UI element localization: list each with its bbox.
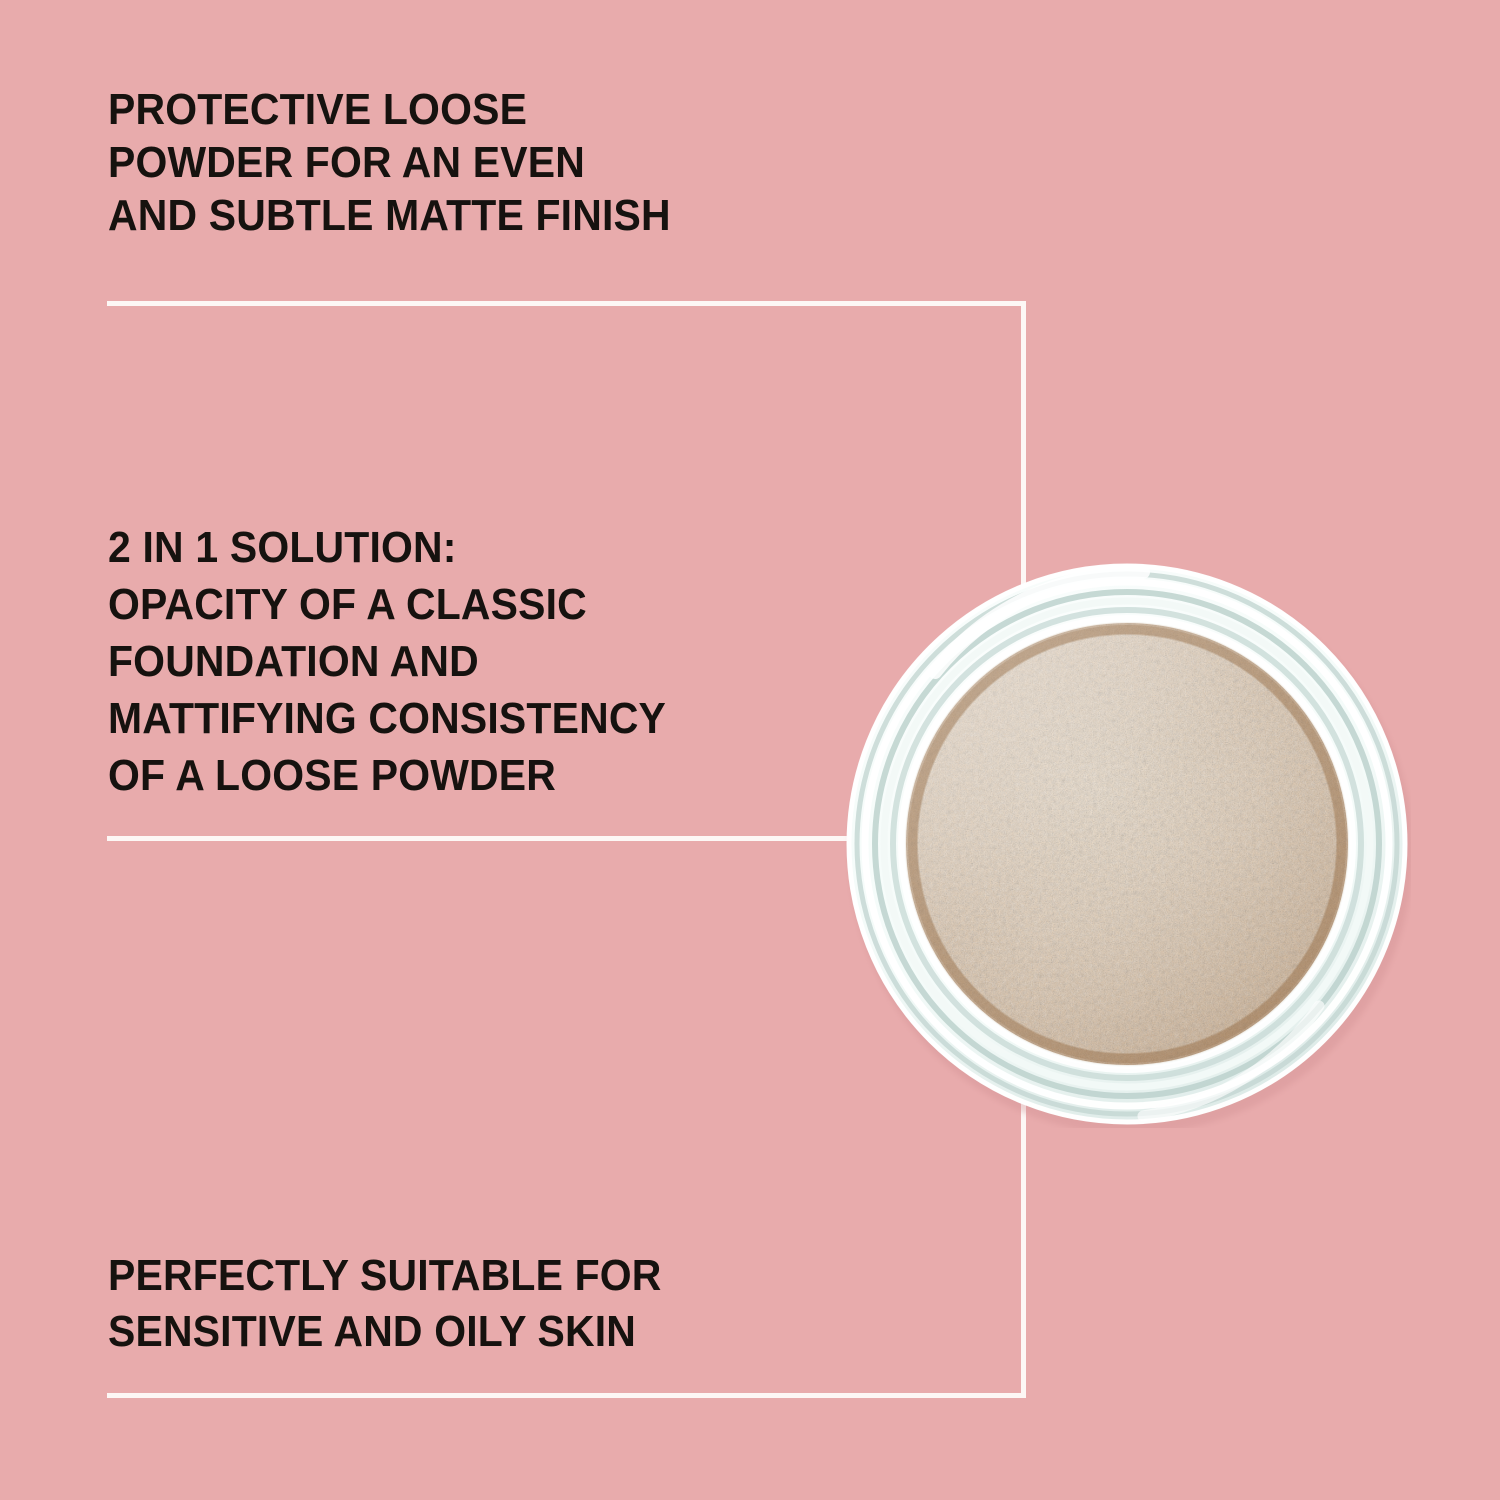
benefit-text-two-in-one: 2 IN 1 SOLUTION: OPACITY OF A CLASSIC FO… [108, 519, 666, 804]
bracket-line-top-horizontal [107, 301, 1026, 306]
loose-powder-jar-image [843, 560, 1411, 1128]
benefit-text-protective-finish: PROTECTIVE LOOSE POWDER FOR AN EVEN AND … [108, 83, 671, 242]
bracket-line-vertical-upper [1021, 301, 1026, 591]
bracket-line-middle-horizontal [107, 836, 847, 841]
product-feature-graphic: PROTECTIVE LOOSE POWDER FOR AN EVEN AND … [0, 0, 1500, 1500]
benefit-text-skin-suitability: PERFECTLY SUITABLE FOR SENSITIVE AND OIL… [108, 1248, 662, 1360]
bracket-line-vertical-lower [1021, 1100, 1026, 1398]
bracket-line-bottom-horizontal [107, 1393, 1026, 1398]
